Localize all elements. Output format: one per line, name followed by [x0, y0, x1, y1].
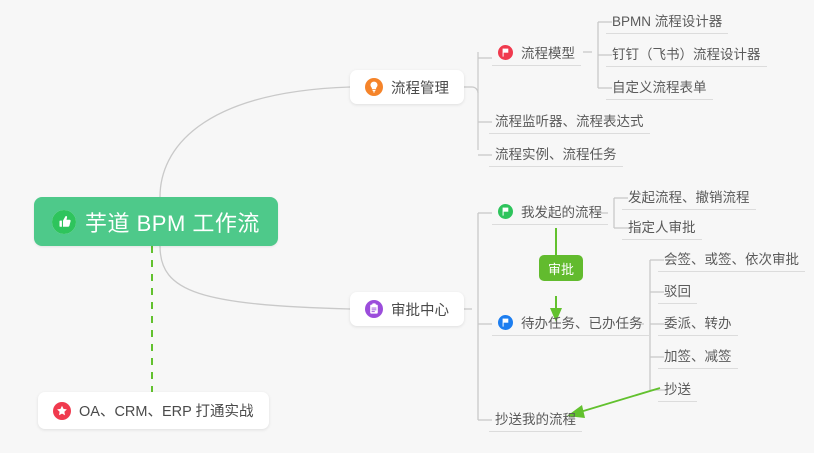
approval-tag: 审批 — [539, 255, 583, 281]
link-pm-corner — [472, 87, 478, 93]
node-label: 流程模型 — [521, 42, 575, 62]
flag-icon — [498, 45, 513, 60]
node-cc[interactable]: 抄送 — [658, 378, 697, 402]
node-label: 会签、或签、依次审批 — [664, 248, 799, 268]
root-label: 芋道 BPM 工作流 — [85, 206, 260, 238]
node-label: 加签、减签 — [664, 345, 732, 365]
node-reject[interactable]: 驳回 — [658, 280, 697, 304]
approval-tag-label: 审批 — [548, 259, 574, 278]
node-label: BPMN 流程设计器 — [612, 10, 722, 30]
root-node[interactable]: 芋道 BPM 工作流 — [34, 197, 278, 246]
node-label: 流程实例、流程任务 — [495, 143, 617, 163]
node-label: 我发起的流程 — [521, 201, 602, 221]
node-label: 抄送我的流程 — [495, 408, 576, 428]
node-label: 发起流程、撤销流程 — [628, 186, 750, 206]
link-root-to-process-management — [160, 87, 350, 197]
node-add-remove-sign[interactable]: 加签、减签 — [658, 345, 738, 369]
node-start-cancel-process[interactable]: 发起流程、撤销流程 — [622, 186, 756, 210]
node-label: 驳回 — [664, 280, 691, 300]
callout-label: OA、CRM、ERP 打通实战 — [79, 400, 254, 421]
link-root-to-approval-center — [160, 246, 350, 309]
node-bpmn-designer[interactable]: BPMN 流程设计器 — [606, 10, 728, 34]
callout-node[interactable]: OA、CRM、ERP 打通实战 — [38, 392, 269, 429]
node-label: 流程监听器、流程表达式 — [495, 110, 644, 130]
branch-label: 审批中心 — [391, 299, 449, 320]
node-assignee-approval[interactable]: 指定人审批 — [622, 216, 702, 240]
branch-process-management[interactable]: 流程管理 — [350, 70, 464, 104]
lightbulb-icon — [365, 78, 383, 96]
node-dingtalk-feishu-designer[interactable]: 钉钉（飞书）流程设计器 — [606, 43, 767, 67]
node-label: 自定义流程表单 — [612, 76, 707, 96]
node-label: 钉钉（飞书）流程设计器 — [612, 43, 761, 63]
node-custom-process-form[interactable]: 自定义流程表单 — [606, 76, 713, 100]
branch-label: 流程管理 — [391, 77, 449, 98]
node-my-started-process[interactable]: 我发起的流程 — [492, 201, 608, 225]
clipboard-icon — [365, 300, 383, 318]
flag-icon — [498, 315, 513, 330]
node-label: 委派、转办 — [664, 312, 732, 332]
node-process-listener-expression[interactable]: 流程监听器、流程表达式 — [489, 110, 650, 134]
link-pm-cap-top — [478, 46, 484, 52]
node-label: 指定人审批 — [628, 216, 696, 236]
node-todo-done-task[interactable]: 待办任务、已办任务 — [492, 312, 649, 336]
node-process-instance-task[interactable]: 流程实例、流程任务 — [489, 143, 623, 167]
mindmap-canvas: 芋道 BPM 工作流 OA、CRM、ERP 打通实战 流程管理 — [0, 0, 814, 453]
node-multi-sign[interactable]: 会签、或签、依次审批 — [658, 248, 805, 272]
node-process-model[interactable]: 流程模型 — [492, 42, 581, 66]
node-delegate-transfer[interactable]: 委派、转办 — [658, 312, 738, 336]
branch-approval-center[interactable]: 审批中心 — [350, 292, 464, 326]
node-cc-my-process[interactable]: 抄送我的流程 — [489, 408, 582, 432]
thumbs-up-icon — [52, 210, 76, 234]
flag-icon — [498, 204, 513, 219]
star-icon — [53, 402, 71, 420]
node-label: 抄送 — [664, 378, 691, 398]
node-label: 待办任务、已办任务 — [521, 312, 643, 332]
